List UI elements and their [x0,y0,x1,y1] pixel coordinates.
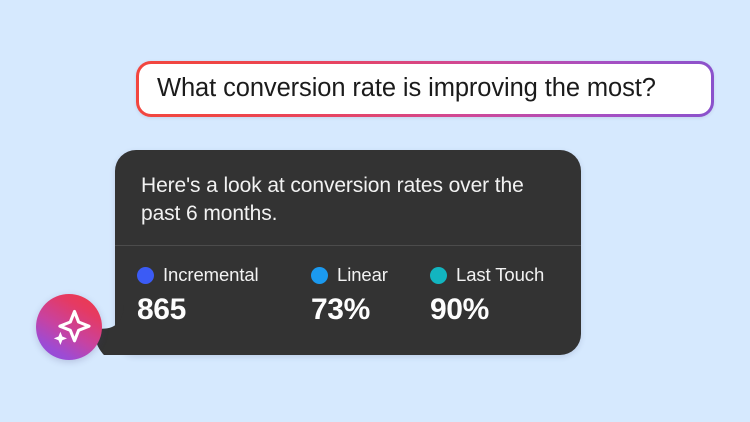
answer-summary: Here's a look at conversion rates over t… [115,150,581,229]
metric-legend: Last Touch [430,264,544,286]
metrics-row: Incremental 865 Linear 73% Last Touch 90… [115,246,581,264]
metric-label: Last Touch [456,264,544,286]
metric-label: Linear [337,264,388,286]
metric-value: 73% [311,295,388,325]
metric-incremental[interactable]: Incremental 865 [137,264,259,325]
legend-dot-icon [311,267,328,284]
metric-legend: Linear [311,264,388,286]
assistant-avatar[interactable] [36,294,102,360]
metric-label: Incremental [163,264,259,286]
legend-dot-icon [430,267,447,284]
question-input-pill[interactable]: What conversion rate is improving the mo… [136,61,714,117]
question-pill-inner: What conversion rate is improving the mo… [139,64,711,114]
metric-last-touch[interactable]: Last Touch 90% [430,264,544,325]
metric-value: 90% [430,295,544,325]
metric-value: 865 [137,295,259,325]
question-text: What conversion rate is improving the mo… [157,76,656,102]
metric-linear[interactable]: Linear 73% [311,264,388,325]
metric-legend: Incremental [137,264,259,286]
sparkle-icon [36,294,102,360]
assistant-answer-card: Here's a look at conversion rates over t… [115,150,581,355]
answer-summary-text: Here's a look at conversion rates over t… [141,172,555,229]
legend-dot-icon [137,267,154,284]
